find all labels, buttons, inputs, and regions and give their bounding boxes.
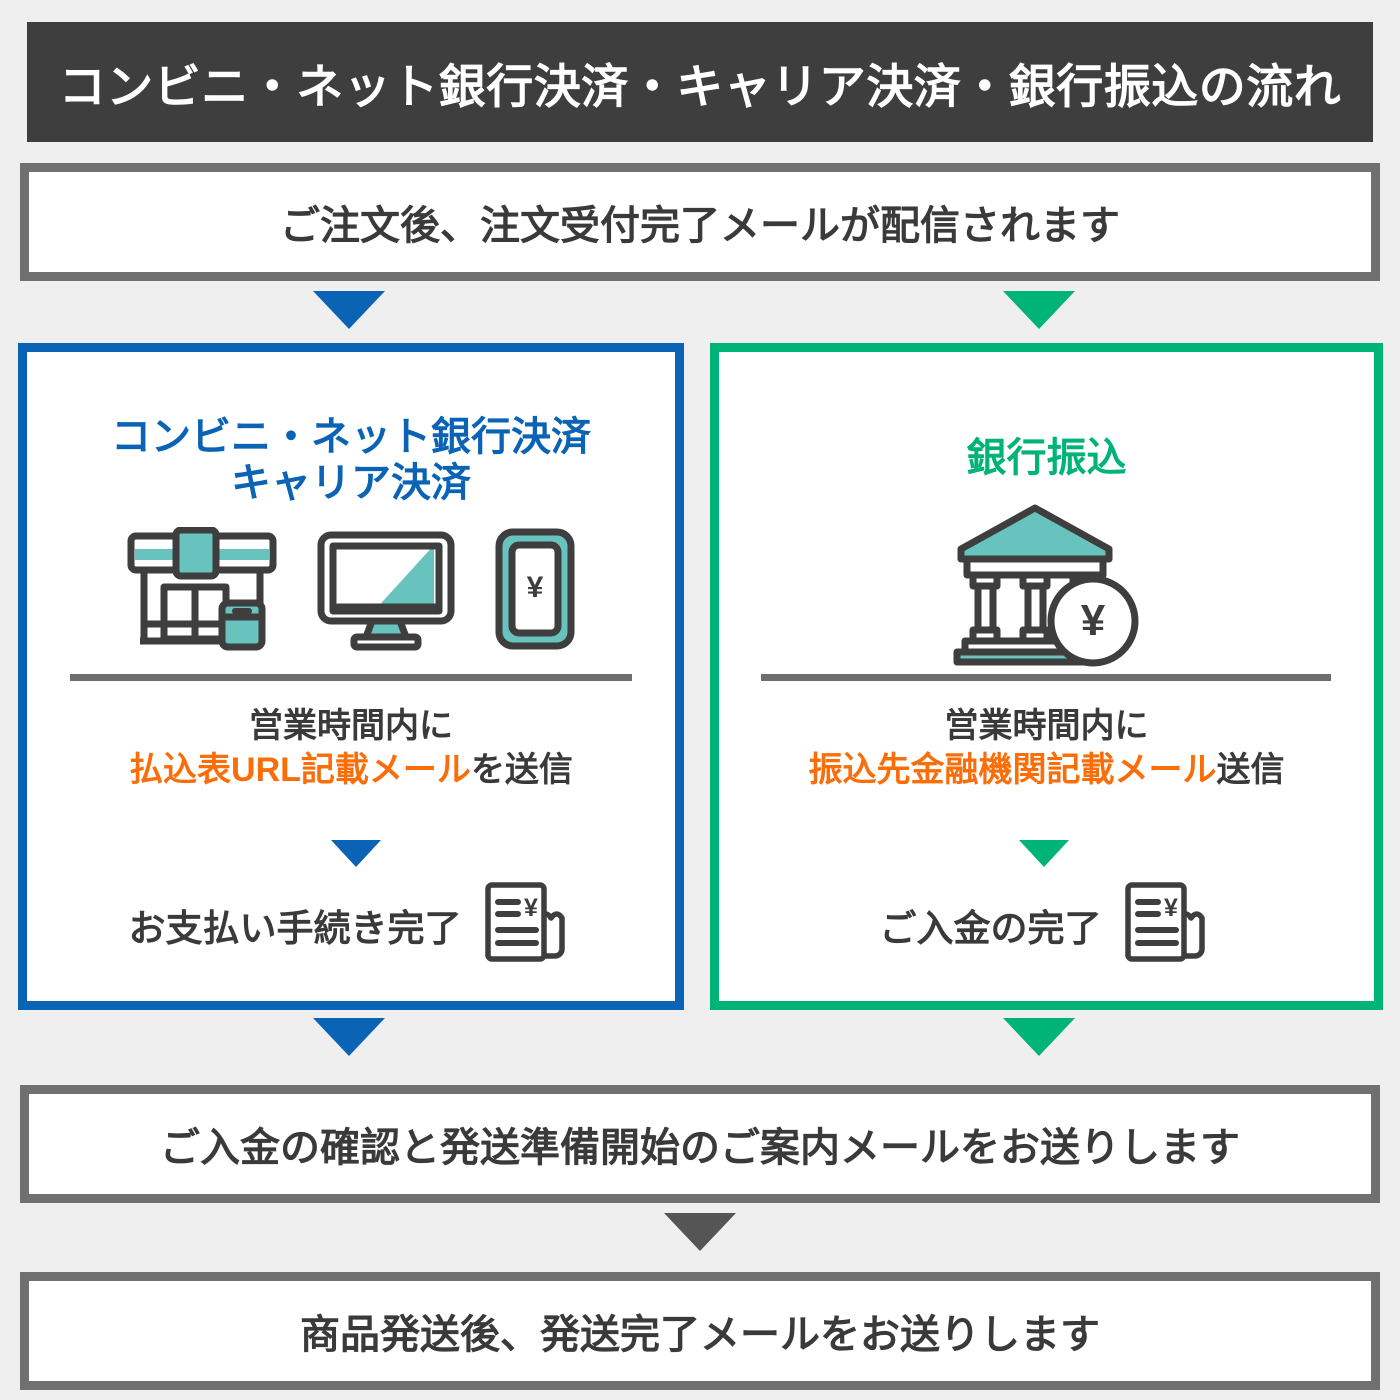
- step-order-received-box: ご注文後、注文受付完了メールが配信されます: [20, 163, 1380, 281]
- arrow-down-to-bank-icon: [1003, 291, 1075, 329]
- receipt-yen-icon: ¥: [478, 880, 574, 969]
- svg-text:¥: ¥: [524, 894, 538, 922]
- header-banner: コンビニ・ネット銀行決済・キャリア決済・銀行振込の流れ: [27, 22, 1373, 142]
- step-payment-confirmed-box: ご入金の確認と発送準備開始のご案内メールをお送りします: [20, 1085, 1380, 1203]
- panel-bank-transfer: 銀行振込: [710, 343, 1383, 1010]
- step-shipped-label: 商品発送後、発送完了メールをお送りします: [300, 1302, 1100, 1360]
- arrow-down-bank-inner-icon: [1019, 840, 1069, 867]
- bank-icon-row: ¥: [719, 502, 1374, 673]
- receipt-yen-icon: ¥: [1118, 880, 1214, 969]
- bank-mail-highlight: 振込先金融機関記載メール: [809, 751, 1217, 789]
- bank-divider: [761, 674, 1331, 681]
- convenience-mail-suffix: を送信: [471, 751, 573, 789]
- page-title: コンビニ・ネット銀行決済・キャリア決済・銀行振込の流れ: [59, 48, 1342, 117]
- bank-mail-note: 営業時間内に 振込先金融機関記載メール送信: [719, 704, 1374, 792]
- smartphone-yen-icon: ¥: [494, 527, 576, 656]
- svg-text:¥: ¥: [1080, 596, 1105, 645]
- convenience-mail-prefix: 営業時間内に: [27, 704, 675, 748]
- convenience-store-icon: [126, 527, 278, 656]
- arrow-down-to-shipped-icon: [664, 1213, 736, 1251]
- convenience-done-row: お支払い手続き完了 ¥: [27, 880, 675, 969]
- bank-building-yen-icon: ¥: [947, 502, 1147, 673]
- step-payment-confirmed-label: ご入金の確認と発送準備開始のご案内メールをお送りします: [160, 1115, 1240, 1173]
- flowchart-canvas: コンビニ・ネット銀行決済・キャリア決済・銀行振込の流れ ご注文後、注文受付完了メ…: [0, 0, 1400, 1400]
- convenience-icon-row: ¥: [27, 527, 675, 656]
- panel-bank-title: 銀行振込: [719, 435, 1374, 481]
- svg-text:¥: ¥: [1164, 894, 1178, 922]
- bank-done-row: ご入金の完了 ¥: [719, 880, 1374, 969]
- panel-convenience-title-line1: コンビニ・ネット銀行決済: [27, 414, 675, 460]
- convenience-divider: [70, 674, 632, 681]
- arrow-down-from-bank-icon: [1003, 1018, 1075, 1056]
- svg-text:¥: ¥: [527, 571, 544, 604]
- panel-convenience-title: コンビニ・ネット銀行決済 キャリア決済: [27, 414, 675, 506]
- convenience-mail-note: 営業時間内に 払込表URL記載メールを送信: [27, 704, 675, 792]
- bank-done-label: ご入金の完了: [880, 898, 1102, 952]
- step-shipped-box: 商品発送後、発送完了メールをお送りします: [20, 1272, 1380, 1390]
- bank-mail-prefix: 営業時間内に: [719, 704, 1374, 748]
- convenience-mail-highlight: 払込表URL記載メール: [129, 751, 471, 789]
- panel-convenience-title-line2: キャリア決済: [27, 460, 675, 506]
- panel-bank-title-line1: 銀行振込: [719, 435, 1374, 481]
- bank-mail-suffix: 送信: [1217, 751, 1285, 789]
- panel-convenience-payment: コンビニ・ネット銀行決済 キャリア決済: [18, 343, 684, 1010]
- step-order-received-label: ご注文後、注文受付完了メールが配信されます: [280, 193, 1120, 251]
- arrow-down-from-convenience-icon: [313, 1018, 385, 1056]
- convenience-mail-detail: 払込表URL記載メールを送信: [27, 748, 675, 792]
- bank-mail-detail: 振込先金融機関記載メール送信: [719, 748, 1374, 792]
- desktop-monitor-icon: [316, 527, 456, 656]
- arrow-down-to-convenience-icon: [313, 291, 385, 329]
- convenience-done-label: お支払い手続き完了: [129, 898, 462, 952]
- arrow-down-convenience-inner-icon: [331, 840, 381, 867]
